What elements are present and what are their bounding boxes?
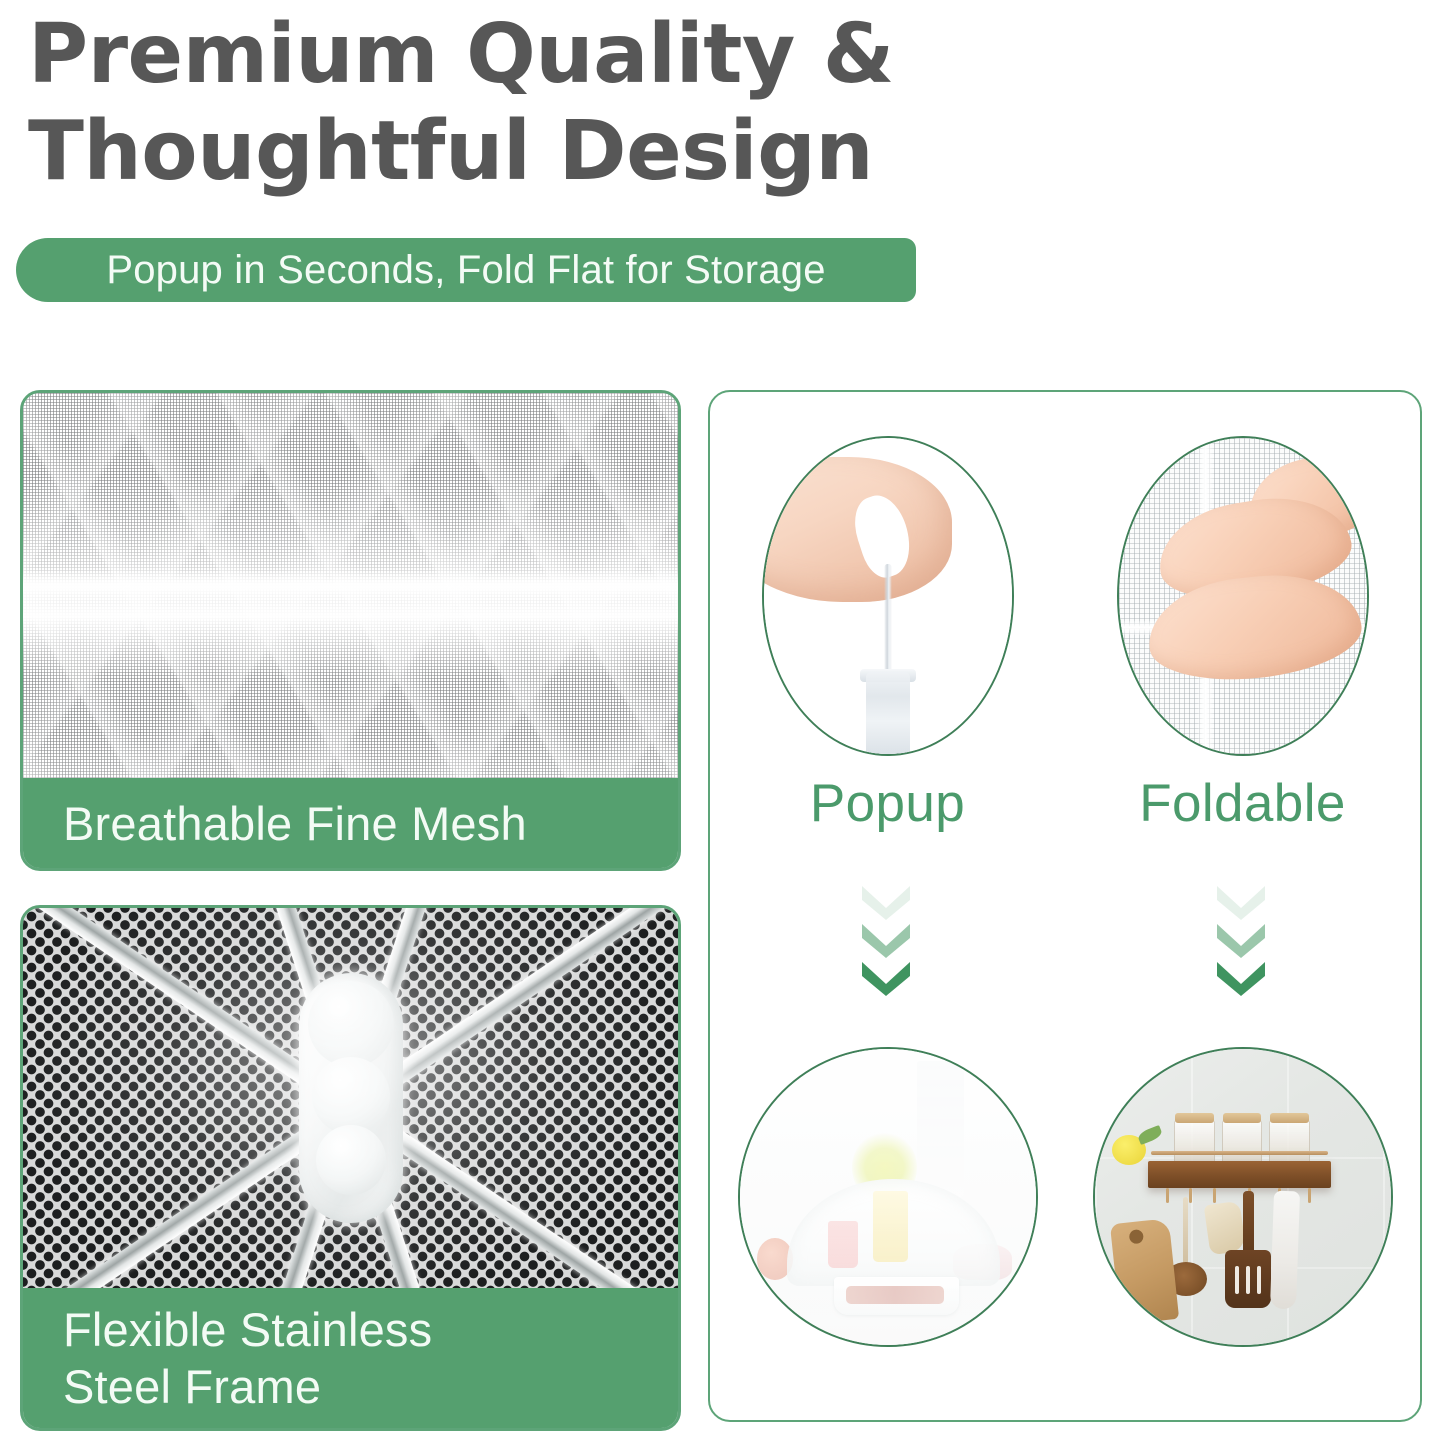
spatula-slot (1257, 1266, 1261, 1294)
jar-lid (1270, 1113, 1308, 1123)
shelf-hook (1213, 1188, 1216, 1203)
stem-cap (866, 672, 910, 754)
foldable-hand-photo (1117, 436, 1369, 756)
steel-frame-label-line-2: Steel Frame (63, 1358, 678, 1415)
pull-stem (884, 564, 891, 678)
lemon (1112, 1135, 1146, 1165)
chevron-down-icon (858, 882, 914, 920)
chevron-down-icon (858, 958, 914, 996)
spice-jar (1174, 1120, 1214, 1166)
chevron-down-icon (1213, 958, 1269, 996)
foldable-kitchen-photo (1093, 1047, 1393, 1347)
scrubber-pad (1204, 1201, 1247, 1256)
steel-frame-photo (23, 908, 678, 1288)
spice-jar (1222, 1120, 1262, 1166)
jar-lid (1223, 1113, 1261, 1123)
spatula-slot (1235, 1266, 1239, 1294)
chevron-down-icon (858, 920, 914, 958)
fine-mesh-label: Breathable Fine Mesh (23, 778, 678, 868)
feature-card-stainless-steel-frame: Flexible Stainless Steel Frame (20, 905, 681, 1431)
page-title-line-2: Thoughtful Design (28, 103, 1028, 200)
popup-hand-photo (762, 436, 1014, 756)
dish-brush (1183, 1197, 1188, 1274)
step-column-foldable: Foldable (1065, 392, 1420, 1420)
shelf-rail (1151, 1151, 1329, 1155)
photo-light-wash (740, 1049, 1036, 1345)
steps-panel: Popup (708, 390, 1422, 1422)
page-title-line-1: Premium Quality & (28, 6, 1028, 103)
feature-card-breathable-fine-mesh: Breathable Fine Mesh (20, 390, 681, 871)
fine-mesh-photo (23, 393, 678, 778)
step-caption-foldable: Foldable (1065, 774, 1420, 834)
jar-lid (1175, 1113, 1213, 1123)
cutting-board (1110, 1218, 1179, 1324)
popup-arrow-stack (858, 882, 918, 1012)
chevron-down-icon (1213, 920, 1269, 958)
foldable-arrow-stack (1213, 882, 1273, 1012)
spatula-slot (1246, 1266, 1250, 1294)
photo-vignette (23, 908, 678, 1288)
page-title: Premium Quality & Thoughtful Design (28, 6, 1028, 200)
popup-table-scene-photo (738, 1047, 1038, 1347)
white-utensil (1270, 1191, 1300, 1310)
shelf-hook (1166, 1188, 1169, 1203)
subtitle-text: Popup in Seconds, Fold Flat for Storage (106, 248, 825, 293)
infographic-page: Premium Quality & Thoughtful Design Popu… (0, 0, 1445, 1432)
steel-frame-label: Flexible Stainless Steel Frame (23, 1288, 678, 1428)
fine-mesh-label-line-1: Breathable Fine Mesh (63, 795, 678, 852)
spatula-head (1225, 1250, 1271, 1308)
step-caption-popup: Popup (710, 774, 1065, 834)
steel-frame-label-line-1: Flexible Stainless (63, 1301, 678, 1358)
shelf-hook (1308, 1188, 1311, 1203)
step-column-popup: Popup (710, 392, 1065, 1420)
subtitle-banner: Popup in Seconds, Fold Flat for Storage (16, 238, 916, 302)
wooden-shelf (1148, 1161, 1332, 1188)
chevron-down-icon (1213, 882, 1269, 920)
spice-jar (1269, 1120, 1309, 1166)
wooden-spatula (1243, 1191, 1254, 1256)
shelf-hook (1189, 1188, 1192, 1203)
mesh-seam (23, 569, 678, 603)
cutting-board-hole (1129, 1229, 1144, 1244)
